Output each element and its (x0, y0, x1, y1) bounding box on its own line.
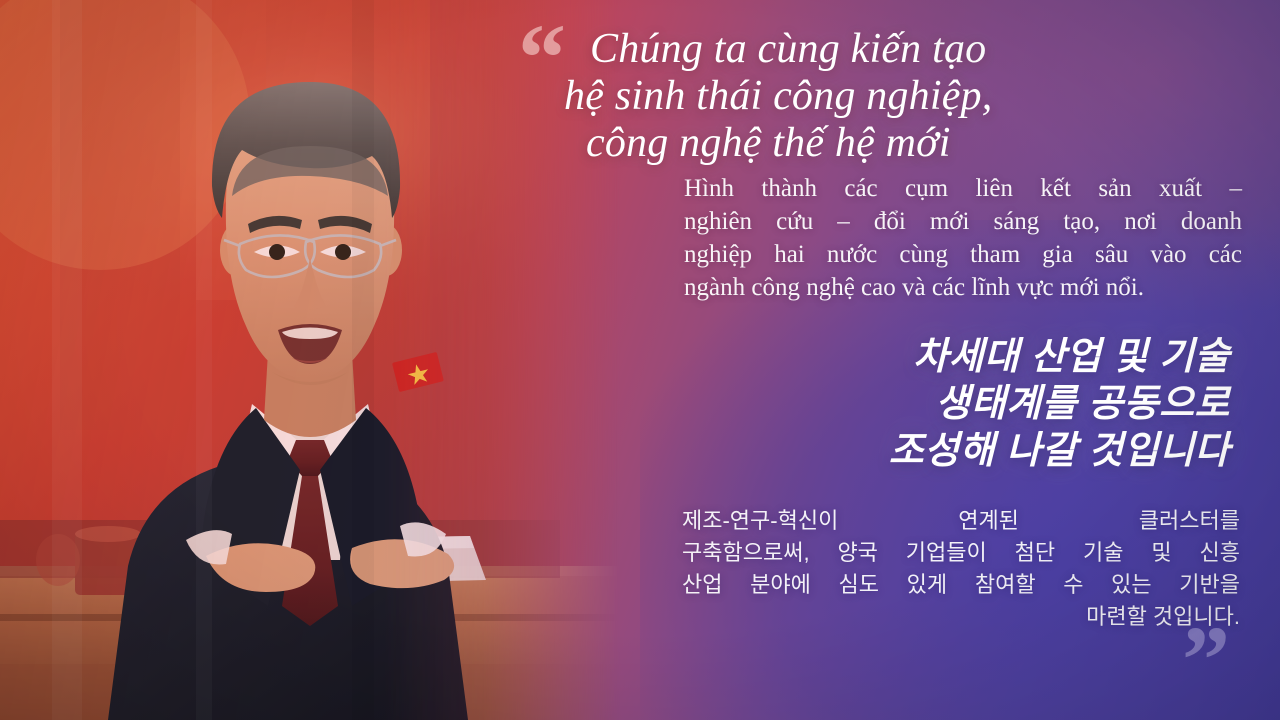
korean-headline-line-2: 생태계를 공동으로 (560, 381, 1230, 428)
vietnamese-headline-line-2: hệ sinh thái công nghiệp, (560, 73, 1260, 120)
open-quote-icon: “ (518, 10, 566, 106)
vietnamese-body-line-3: nghiệp hai nước cùng tham gia sâu vào cá… (684, 238, 1242, 271)
korean-body: 제조-연구-혁신이 연계된 클러스터를 구축함으로써, 양국 기업들이 첨단 기… (682, 505, 1240, 633)
vietnamese-body-line-4: ngành công nghệ cao và các lĩnh vực mới … (684, 271, 1242, 304)
korean-headline-line-1: 차세대 산업 및 기술 (560, 334, 1230, 381)
vietnamese-headline-line-1: Chúng ta cùng kiến tạo (560, 26, 1260, 73)
quote-card: “ ” Chúng ta cùng kiến tạo hệ sinh thái … (0, 0, 1280, 720)
korean-body-line-2: 구축함으로써, 양국 기업들이 첨단 기술 및 신흥 (682, 537, 1240, 569)
vietnamese-body: Hình thành các cụm liên kết sản xuất – n… (684, 172, 1242, 304)
korean-body-line-1: 제조-연구-혁신이 연계된 클러스터를 (682, 505, 1240, 537)
vietnamese-headline-line-3: công nghệ thế hệ mới (560, 120, 1260, 167)
vietnamese-headline: Chúng ta cùng kiến tạo hệ sinh thái công… (560, 26, 1260, 167)
vietnamese-body-line-2: nghiên cứu – đổi mới sáng tạo, nơi doanh (684, 205, 1242, 238)
korean-headline: 차세대 산업 및 기술 생태계를 공동으로 조성해 나갈 것입니다 (560, 334, 1230, 475)
korean-body-line-3: 산업 분야에 심도 있게 참여할 수 있는 기반을 (682, 569, 1240, 601)
korean-body-line-4: 마련할 것입니다. (682, 601, 1240, 633)
vietnamese-body-line-1: Hình thành các cụm liên kết sản xuất – (684, 172, 1242, 205)
korean-headline-line-3: 조성해 나갈 것입니다 (560, 428, 1230, 475)
